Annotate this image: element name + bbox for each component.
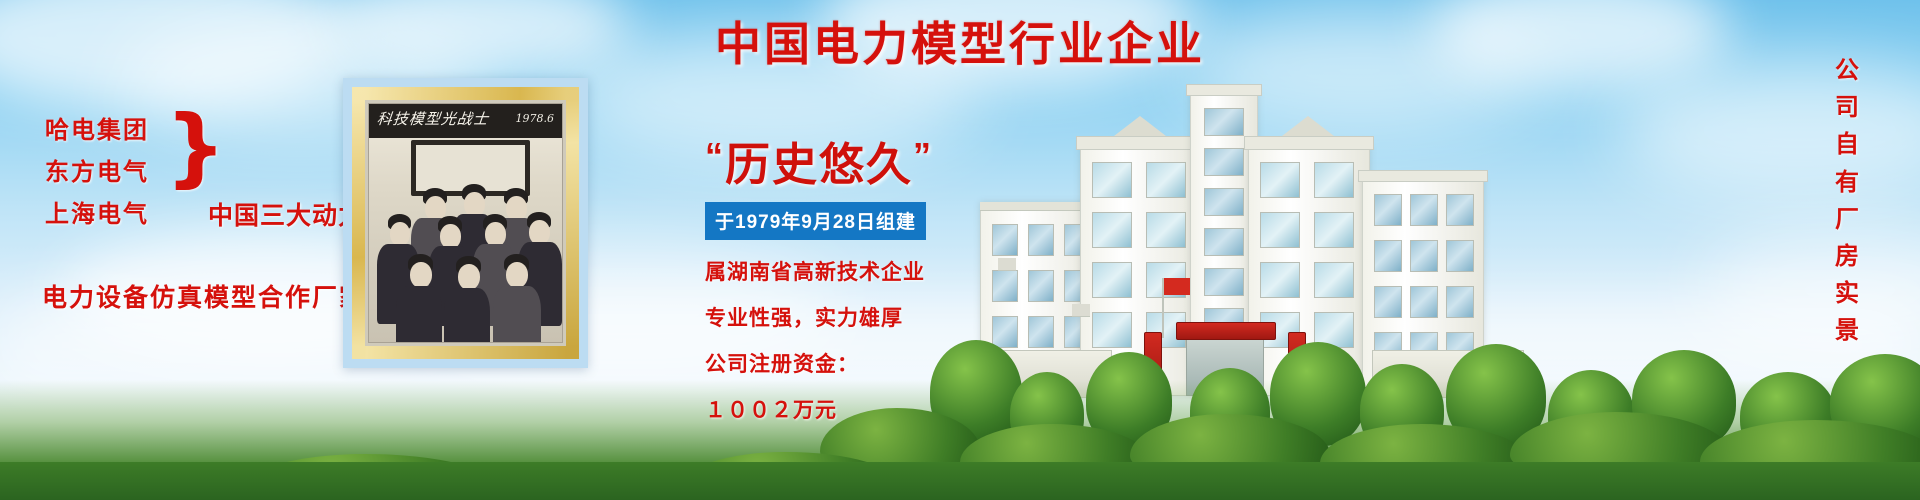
promo-banner: 中国电力模型行业企业 哈电集团 东方电气 上海电气 } 中国三大动力 电力设备仿…: [0, 0, 1920, 500]
photo-person: [493, 286, 541, 343]
page-title: 中国电力模型行业企业: [0, 8, 1920, 74]
red-flag: [1164, 278, 1190, 295]
center-line-2: 专业性强，实力雄厚: [705, 302, 975, 332]
brace-label: 中国三大动力: [208, 196, 364, 232]
brand-item-1: 哈电集团: [45, 110, 149, 145]
vertical-char-2: 司: [1826, 89, 1868, 126]
brand-item-3: 上海电气: [45, 194, 149, 229]
headline-quote: “历史悠久”: [705, 128, 975, 193]
grass-strip: [0, 462, 1920, 500]
building-red-sign: [1176, 322, 1276, 340]
center-line-3: 公司注册资金：: [705, 348, 975, 378]
center-text-block: “历史悠久” 于1979年9月28日组建 属湖南省高新技术企业 专业性强，实力雄…: [705, 128, 975, 424]
founding-date-badge: 于1979年9月28日组建: [705, 202, 926, 240]
photo-person: [506, 262, 528, 288]
vertical-char-3: 自: [1826, 126, 1868, 163]
center-line-1: 属湖南省高新技术企业: [705, 256, 975, 286]
gold-picture-frame: 科技模型光战士 1978.6: [352, 87, 579, 359]
cloud-decoration: [1620, 60, 1920, 200]
vertical-char-8: 景: [1826, 312, 1868, 349]
curly-brace-icon: }: [165, 104, 226, 190]
vertical-char-5: 厂: [1826, 201, 1868, 238]
photo-banner-date: 1978.6: [516, 112, 555, 125]
photo-image: 科技模型光战士 1978.6: [368, 103, 563, 343]
photo-person: [410, 262, 432, 288]
quote-close: ”: [913, 135, 933, 176]
vertical-char-1: 公: [1826, 52, 1868, 89]
quote-open: “: [705, 135, 725, 176]
headline-text: 历史悠久: [725, 139, 913, 190]
photo-person: [444, 288, 490, 343]
photo-person: [458, 264, 480, 290]
brand-item-2: 东方电气: [45, 152, 149, 187]
right-vertical-caption: 公 司 自 有 厂 房 实 景: [1826, 52, 1868, 350]
vertical-char-4: 有: [1826, 164, 1868, 201]
photo-person: [390, 222, 410, 246]
left-brand-block: 哈电集团 东方电气 上海电气 } 中国三大动力 电力设备仿真模型合作厂家: [40, 110, 340, 225]
center-line-4: １００２万元: [705, 394, 975, 424]
photo-person: [396, 286, 442, 343]
left-tagline: 电力设备仿真模型合作厂家: [42, 278, 366, 314]
vertical-char-6: 房: [1826, 238, 1868, 275]
photo-person: [427, 342, 461, 343]
vertical-char-7: 实: [1826, 275, 1868, 312]
brand-list: 哈电集团 东方电气 上海电气 } 中国三大动力: [40, 110, 340, 225]
framed-historic-photo: 科技模型光战士 1978.6: [343, 78, 588, 368]
